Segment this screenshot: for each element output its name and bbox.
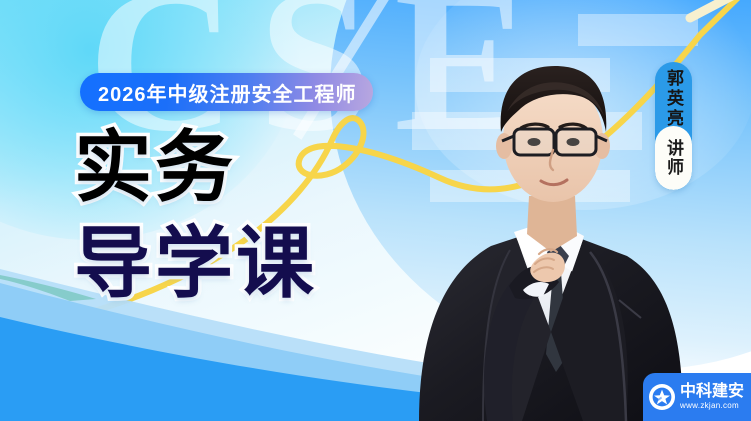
instructor-name-badge: 郭英亮 讲师 <box>655 62 692 190</box>
page-title: 实务 导学课 <box>74 126 317 304</box>
title-line-secondary: 导学课 <box>74 222 317 304</box>
subject-badge: 2026年中级注册安全工程师 <box>80 73 373 111</box>
title-line-primary: 实务 <box>74 126 317 208</box>
brand-logo-text: 中科建安 www.zkjan.com <box>680 383 744 411</box>
instructor-name: 郭英亮 <box>663 69 684 129</box>
instructor-role-cap: 讲师 <box>655 126 692 190</box>
course-promo-banner: CSE 2026年中级注册安全工程师 实务 导学课 <box>0 0 751 421</box>
star-badge-icon <box>649 384 675 410</box>
brand-logo[interactable]: 中科建安 www.zkjan.com <box>643 373 751 421</box>
brand-name: 中科建安 <box>680 383 744 400</box>
instructor-role: 讲师 <box>663 139 684 177</box>
instructor-photo <box>383 0 713 421</box>
subject-badge-label: 2026年中级注册安全工程师 <box>98 78 357 107</box>
brand-website: www.zkjan.com <box>680 400 744 411</box>
